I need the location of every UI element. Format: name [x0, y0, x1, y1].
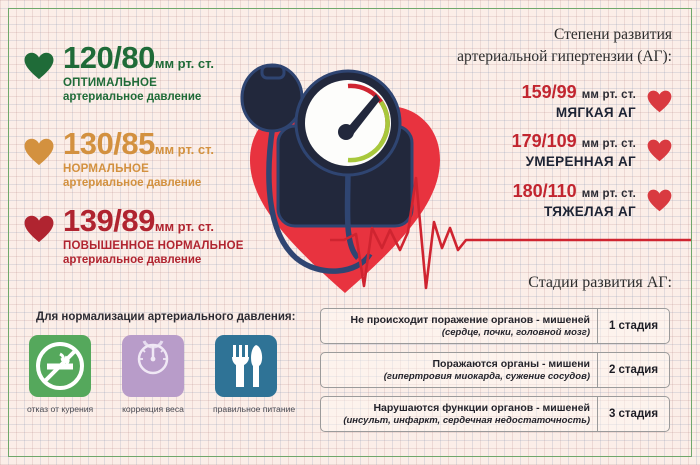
stage-line2: (гипертровия миокарда, сужение сосудов): [384, 371, 590, 382]
stage-row-3: Нарушаются функции органов - мишеней (ин…: [320, 396, 670, 432]
stage-label: 2 стадия: [597, 353, 669, 387]
degrees-title-line2: артериальной гипертензии (АГ):: [372, 46, 672, 68]
bp-category: НОРМАЛЬНОЕ: [63, 164, 214, 176]
bulb-neck: [262, 66, 284, 78]
degrees-title-line1: Степени развития: [372, 24, 672, 46]
degree-unit: мм рт. ст.: [582, 89, 636, 101]
gauge-face: [305, 80, 391, 166]
stage-line2: (сердце, почки, головной мозг): [442, 327, 590, 338]
bp-category: ПОВЫШЕННОЕ НОРМАЛЬНОЕ: [63, 241, 244, 253]
degree-value: 179/109: [512, 131, 577, 151]
degree-name: УМЕРЕННАЯ АГ: [512, 154, 636, 170]
stage-label: 1 стадия: [597, 309, 669, 343]
fork-knife-icon: [215, 335, 277, 397]
bp-unit: мм рт. ст.: [155, 142, 214, 157]
heart-icon: [24, 52, 54, 80]
degree-value: 159/99: [522, 82, 577, 102]
stage-line1: Поражаются органы - мишени: [432, 358, 590, 370]
heart-icon: [647, 139, 672, 162]
heart-icon: [647, 189, 672, 212]
degree-unit: мм рт. ст.: [582, 188, 636, 200]
degrees-title: Степени развития артериальной гипертензи…: [372, 24, 672, 69]
bp-subtitle: артериальное давление: [63, 255, 244, 267]
heart-icon: [24, 215, 54, 243]
tip-label: отказ от курения: [27, 404, 93, 414]
degree-value: 180/110: [513, 181, 577, 201]
bp-subtitle: артериальное давление: [63, 92, 214, 104]
tips-title: Для нормализации артериального давления:: [36, 311, 295, 323]
degree-name: ТЯЖЕЛАЯ АГ: [513, 204, 636, 220]
bp-unit: мм рт. ст.: [155, 56, 214, 71]
gauge-hub: [338, 124, 354, 140]
stage-line2: (инсульт, инфаркт, сердечная недостаточн…: [343, 415, 590, 426]
bp-value: 120/80: [63, 40, 155, 75]
degree-severe: 180/110 мм рт. ст. ТЯЖЕЛАЯ АГ: [513, 181, 672, 219]
tip-healthy-eating: правильное питание: [213, 335, 279, 414]
infographic-canvas: 120/80мм рт. ст. ОПТИМАЛЬНОЕ артериально…: [0, 0, 700, 465]
heart-icon: [647, 90, 672, 113]
bp-category: ОПТИМАЛЬНОЕ: [63, 78, 214, 90]
tip-label: коррекция веса: [120, 404, 186, 414]
heart-icon: [24, 138, 54, 166]
stages-title: Стадии развития АГ:: [528, 274, 672, 292]
stage-label: 3 стадия: [597, 397, 669, 431]
bp-level-optimal: 120/80мм рт. ст. ОПТИМАЛЬНОЕ артериально…: [24, 42, 214, 103]
bp-value: 139/89: [63, 203, 155, 238]
tip-no-smoking: отказ от курения: [27, 335, 93, 414]
stage-line1: Нарушаются функции органов - мишеней: [373, 402, 590, 414]
bp-level-high-normal: 139/89мм рт. ст. ПОВЫШЕННОЕ НОРМАЛЬНОЕ а…: [24, 205, 244, 266]
degree-unit: мм рт. ст.: [582, 138, 636, 150]
stage-line1: Не происходит поражение органов - мишене…: [351, 314, 590, 326]
degree-name: МЯГКАЯ АГ: [522, 105, 636, 121]
no-smoking-icon: [29, 335, 91, 397]
bp-level-normal: 130/85мм рт. ст. НОРМАЛЬНОЕ артериальное…: [24, 128, 214, 189]
tip-weight-correction: коррекция веса: [120, 335, 186, 414]
stage-row-1: Не происходит поражение органов - мишене…: [320, 308, 670, 344]
tip-label: правильное питание: [213, 404, 279, 414]
bp-subtitle: артериальное давление: [63, 178, 214, 190]
bp-unit: мм рт. ст.: [155, 219, 214, 234]
degree-moderate: 179/109 мм рт. ст. УМЕРЕННАЯ АГ: [512, 131, 672, 169]
weight-scale-icon: [122, 335, 184, 397]
stage-row-2: Поражаются органы - мишени (гипертровия …: [320, 352, 670, 388]
bp-value: 130/85: [63, 126, 155, 161]
degree-mild: 159/99 мм рт. ст. МЯГКАЯ АГ: [522, 82, 672, 120]
